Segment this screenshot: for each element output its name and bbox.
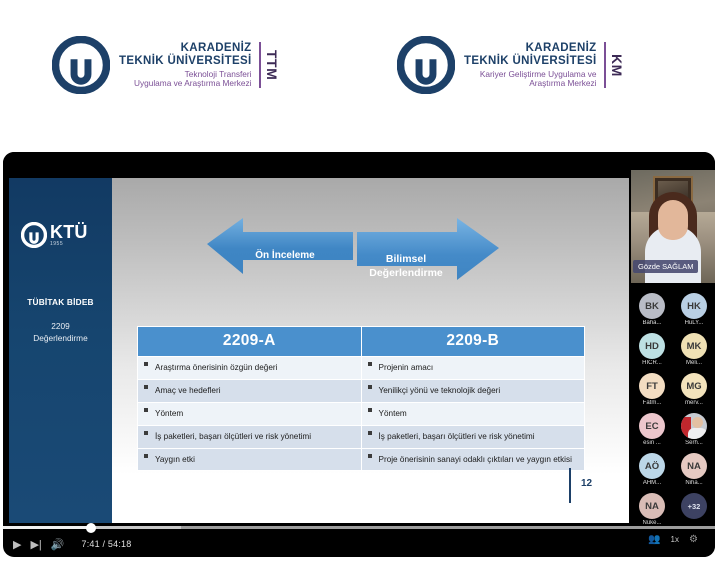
participant-tile[interactable]: ECesin ...: [631, 410, 673, 450]
table-cell-text: Proje önerisinin sanayi odaklı çıktıları…: [379, 454, 577, 466]
table-cell-text: Araştırma önerisinin özgün değeri: [155, 362, 353, 374]
table-cell-text: Projenin amacı: [379, 362, 577, 374]
ktu-logo-name: KTÜ: [50, 223, 88, 241]
table-cell: Yöntem: [361, 402, 585, 425]
participant-name: esin ...: [643, 440, 661, 446]
logo-line4: Uygulama ve Araştırma Merkezi: [119, 79, 252, 88]
page-number-rule: [569, 468, 571, 503]
comparison-table: 2209-A 2209-B Araştırma önerisinin özgün…: [137, 326, 585, 471]
participant-name: HuLY...: [685, 320, 704, 326]
bullet-icon: [368, 362, 372, 366]
player-time-display: 7:41 / 54:18: [82, 539, 132, 549]
participant-tile[interactable]: NANiha...: [673, 450, 715, 490]
table-header-2209a: 2209-A: [138, 327, 362, 357]
ktu-logo: KTÜ 1955: [21, 222, 88, 248]
logo-line2: TEKNİK ÜNİVERSİTESİ: [119, 55, 252, 68]
progress-buffered: [91, 526, 181, 529]
participant-tile[interactable]: HDHICR...: [631, 330, 673, 370]
participant-tile[interactable]: NANüke...: [631, 490, 673, 530]
participant-tile[interactable]: +32: [673, 490, 715, 530]
logo-km: KARADENİZ TEKNİK ÜNİVERSİTESİ Kariyer Ge…: [397, 36, 625, 94]
participant-name: Meli...: [686, 360, 702, 366]
participant-avatar[interactable]: NA: [639, 493, 665, 519]
logo-divider: [259, 42, 262, 88]
logo-line1: KARADENİZ: [119, 42, 252, 55]
participant-avatar[interactable]: MK: [681, 333, 707, 359]
participant-name: merv...: [685, 400, 703, 406]
slide-page-number: 12: [581, 478, 592, 489]
slide-sidebar-title: TÜBİTAK BİDEB: [9, 297, 112, 307]
active-speaker-name: Gözde SAĞLAM: [633, 260, 698, 273]
bullet-icon: [368, 454, 372, 458]
logo-abbreviation: TTM: [264, 50, 280, 80]
table-cell: Proje önerisinin sanayi odaklı çıktıları…: [361, 448, 585, 471]
table-row: İş paketleri, başarı ölçütleri ve risk y…: [138, 425, 585, 448]
logo-line2: TEKNİK ÜNİVERSİTESİ: [464, 55, 597, 68]
table-cell: Yaygın etki: [138, 448, 362, 471]
speaker-face: [658, 200, 688, 240]
bullet-icon: [144, 408, 148, 412]
participant-tile[interactable]: MGmerv...: [673, 370, 715, 410]
video-stage[interactable]: KTÜ 1955 TÜBİTAK BİDEB 2209 Değerlendirm…: [3, 152, 631, 544]
table-cell: Araştırma önerisinin özgün değeri: [138, 357, 362, 380]
table-row: Yöntem Yöntem: [138, 402, 585, 425]
presentation-slide: KTÜ 1955 TÜBİTAK BİDEB 2209 Değerlendirm…: [9, 178, 629, 523]
participant-avatar[interactable]: BK: [639, 293, 665, 319]
table-cell-text: Yaygın etki: [155, 454, 353, 466]
video-player[interactable]: KTÜ 1955 TÜBİTAK BİDEB 2209 Değerlendirm…: [3, 152, 715, 557]
logo-line4: Araştırma Merkezi: [464, 79, 597, 88]
ktu-ring-logo-icon: [397, 36, 455, 94]
participant-tile[interactable]: AÖAHM...: [631, 450, 673, 490]
participant-avatar[interactable]: HK: [681, 293, 707, 319]
participant-tile[interactable]: HKHuLY...: [673, 290, 715, 330]
active-speaker-video[interactable]: Gözde SAĞLAM: [631, 170, 715, 283]
table-row: Amaç ve hedefleri Yenilikçi yönü ve tekn…: [138, 379, 585, 402]
participant-name: Serh...: [685, 440, 703, 446]
participant-avatar[interactable]: MG: [681, 373, 707, 399]
table-row: Yaygın etki Proje önerisinin sanayi odak…: [138, 448, 585, 471]
bullet-icon: [144, 454, 148, 458]
participant-name: Baha...: [642, 320, 661, 326]
table-header-2209b: 2209-B: [361, 327, 585, 357]
more-participants-badge[interactable]: +32: [681, 493, 707, 519]
bullet-icon: [144, 385, 148, 389]
table-cell-text: Amaç ve hedefleri: [155, 385, 353, 397]
play-icon[interactable]: ▶: [13, 538, 21, 551]
player-control-bar[interactable]: ▶ ▶| 🔊 7:41 / 54:18: [3, 531, 715, 557]
table-cell: Yöntem: [138, 402, 362, 425]
table-header-row: 2209-A 2209-B: [138, 327, 585, 357]
next-icon[interactable]: ▶|: [30, 538, 41, 551]
participant-grid[interactable]: BKBaha...HKHuLY...HDHICR...MKMeli...FTFa…: [631, 290, 715, 532]
participant-name: Niha...: [685, 480, 702, 486]
ktu-ring-logo-icon: [52, 36, 110, 94]
participant-avatar[interactable]: [681, 413, 707, 439]
header-logo-band: KARADENİZ TEKNİK ÜNİVERSİTESİ Teknoloji …: [0, 0, 716, 148]
participant-name: HICR...: [642, 360, 662, 366]
bullet-icon: [368, 385, 372, 389]
arrow-diagram: Ön İnceleme Bilimsel Değerlendirme: [112, 178, 629, 288]
table-cell: Projenin amacı: [361, 357, 585, 380]
table-cell: Amaç ve hedefleri: [138, 379, 362, 402]
logo-abbreviation: KM: [609, 54, 625, 77]
slide-sidebar-subtitle: 2209 Değerlendirme: [9, 320, 112, 344]
two-way-arrow-icon: [207, 216, 507, 288]
participant-name: Fatm...: [643, 400, 662, 406]
ktu-logo-year: 1955: [50, 242, 88, 247]
logo-ttm: KARADENİZ TEKNİK ÜNİVERSİTESİ Teknoloji …: [52, 36, 280, 94]
participant-avatar[interactable]: EC: [639, 413, 665, 439]
table-cell: Yenilikçi yönü ve teknolojik değeri: [361, 379, 585, 402]
slide-sidebar: KTÜ 1955 TÜBİTAK BİDEB 2209 Değerlendirm…: [9, 178, 112, 523]
logo-divider: [604, 42, 607, 88]
participant-tile[interactable]: Serh...: [673, 410, 715, 450]
participant-avatar[interactable]: FT: [639, 373, 665, 399]
participant-rail[interactable]: Gözde SAĞLAM BKBaha...HKHuLY...HDHICR...…: [631, 152, 715, 557]
participant-name: AHM...: [643, 480, 661, 486]
table-row: Araştırma önerisinin özgün değeri Projen…: [138, 357, 585, 380]
table-cell: İş paketleri, başarı ölçütleri ve risk y…: [361, 425, 585, 448]
ktu-ring-logo-icon: [21, 222, 47, 248]
participant-avatar[interactable]: AÖ: [639, 453, 665, 479]
bullet-icon: [144, 362, 148, 366]
bullet-icon: [368, 408, 372, 412]
progress-bar[interactable]: [3, 526, 715, 529]
table-cell-text: Yenilikçi yönü ve teknolojik değeri: [379, 385, 577, 397]
volume-icon[interactable]: 🔊: [51, 538, 65, 551]
table-cell-text: Yöntem: [155, 408, 353, 420]
participant-avatar[interactable]: NA: [681, 453, 707, 479]
table-cell-text: Yöntem: [379, 408, 577, 420]
participant-tile[interactable]: FTFatm...: [631, 370, 673, 410]
progress-elapsed: [3, 526, 88, 529]
participant-tile[interactable]: MKMeli...: [673, 330, 715, 370]
table-cell-text: İş paketleri, başarı ölçütleri ve risk y…: [155, 431, 353, 443]
participant-avatar[interactable]: HD: [639, 333, 665, 359]
bullet-icon: [368, 431, 372, 435]
table-cell: İş paketleri, başarı ölçütleri ve risk y…: [138, 425, 362, 448]
participant-tile[interactable]: BKBaha...: [631, 290, 673, 330]
table-cell-text: İş paketleri, başarı ölçütleri ve risk y…: [379, 431, 577, 443]
bullet-icon: [144, 431, 148, 435]
logo-line1: KARADENİZ: [464, 42, 597, 55]
